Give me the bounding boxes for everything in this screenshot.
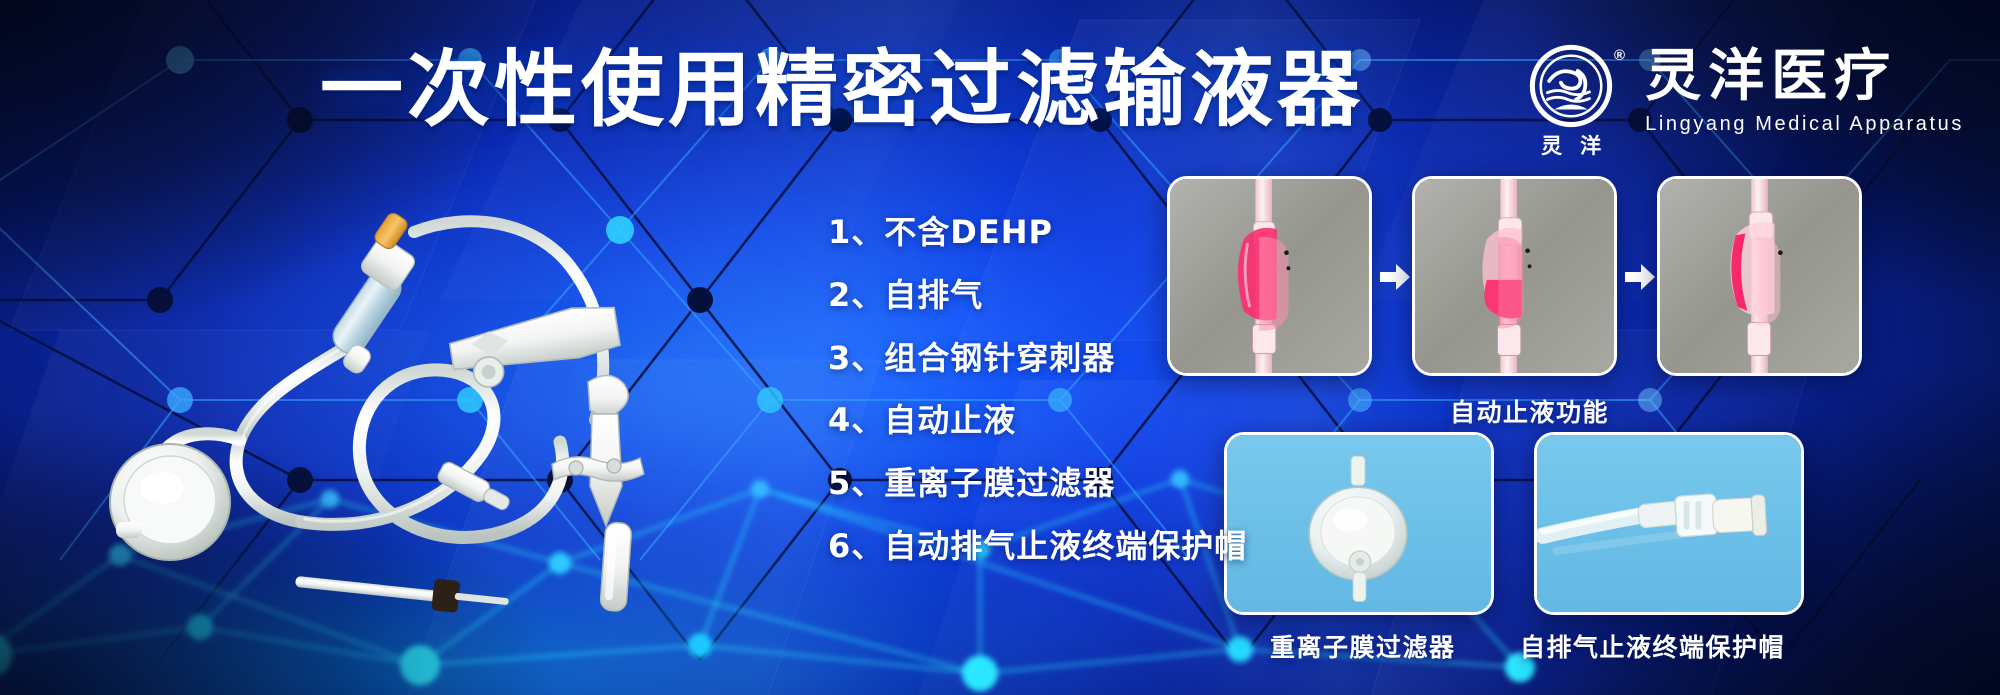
- panel-self-venting-terminal-cap[interactable]: [1534, 432, 1804, 615]
- feature-list: 1、不含DEHP 2、自排气 3、组合钢针穿刺器 4、自动止液 5、重离子膜过滤…: [828, 215, 1247, 565]
- caption-heavy-ion-membrane-filter: 重离子膜过滤器: [1270, 628, 1456, 664]
- feature-item-6: 6、自动排气止液终端保护帽: [828, 529, 1247, 565]
- registered-trademark-icon: ®: [1614, 48, 1625, 63]
- panel-heavy-ion-membrane-filter[interactable]: [1224, 432, 1494, 615]
- brand-name-block: 灵洋医疗 Lingyang Medical Apparatus: [1645, 44, 1964, 136]
- panel-auto-stop-stage-2[interactable]: [1412, 176, 1617, 376]
- page-title: 一次性使用精密过滤输液器: [320, 48, 1364, 131]
- logo-mark-label: 灵洋: [1519, 130, 1623, 160]
- caption-auto-stop-function: 自动止液功能: [1450, 393, 1609, 429]
- caption-self-venting-terminal-cap: 自排气止液终端保护帽: [1520, 628, 1785, 664]
- feature-item-3: 3、组合钢针穿刺器: [828, 341, 1247, 377]
- product-photo-infusion-set: [50, 170, 790, 650]
- wave-mountain-circle-emblem-icon: [1529, 44, 1613, 128]
- product-banner: 一次性使用精密过滤输液器 ® 灵洋 灵洋医疗 Lingyang Medical …: [0, 0, 2000, 695]
- feature-item-1: 1、不含DEHP: [828, 215, 1247, 251]
- feature-item-5: 5、重离子膜过滤器: [828, 466, 1247, 502]
- panel-auto-stop-stage-3[interactable]: [1657, 176, 1862, 376]
- brand-name-en: Lingyang Medical Apparatus: [1645, 113, 1964, 136]
- brand-logo: ® 灵洋 灵洋医疗 Lingyang Medical Apparatus: [1519, 44, 1964, 160]
- brand-name-cn: 灵洋医疗: [1645, 48, 1964, 107]
- logo-mark: ® 灵洋: [1519, 44, 1623, 160]
- arrow-right-icon-1: [1378, 262, 1412, 292]
- arrow-right-icon-2: [1623, 262, 1657, 292]
- feature-item-2: 2、自排气: [828, 278, 1247, 314]
- feature-item-4: 4、自动止液: [828, 403, 1247, 439]
